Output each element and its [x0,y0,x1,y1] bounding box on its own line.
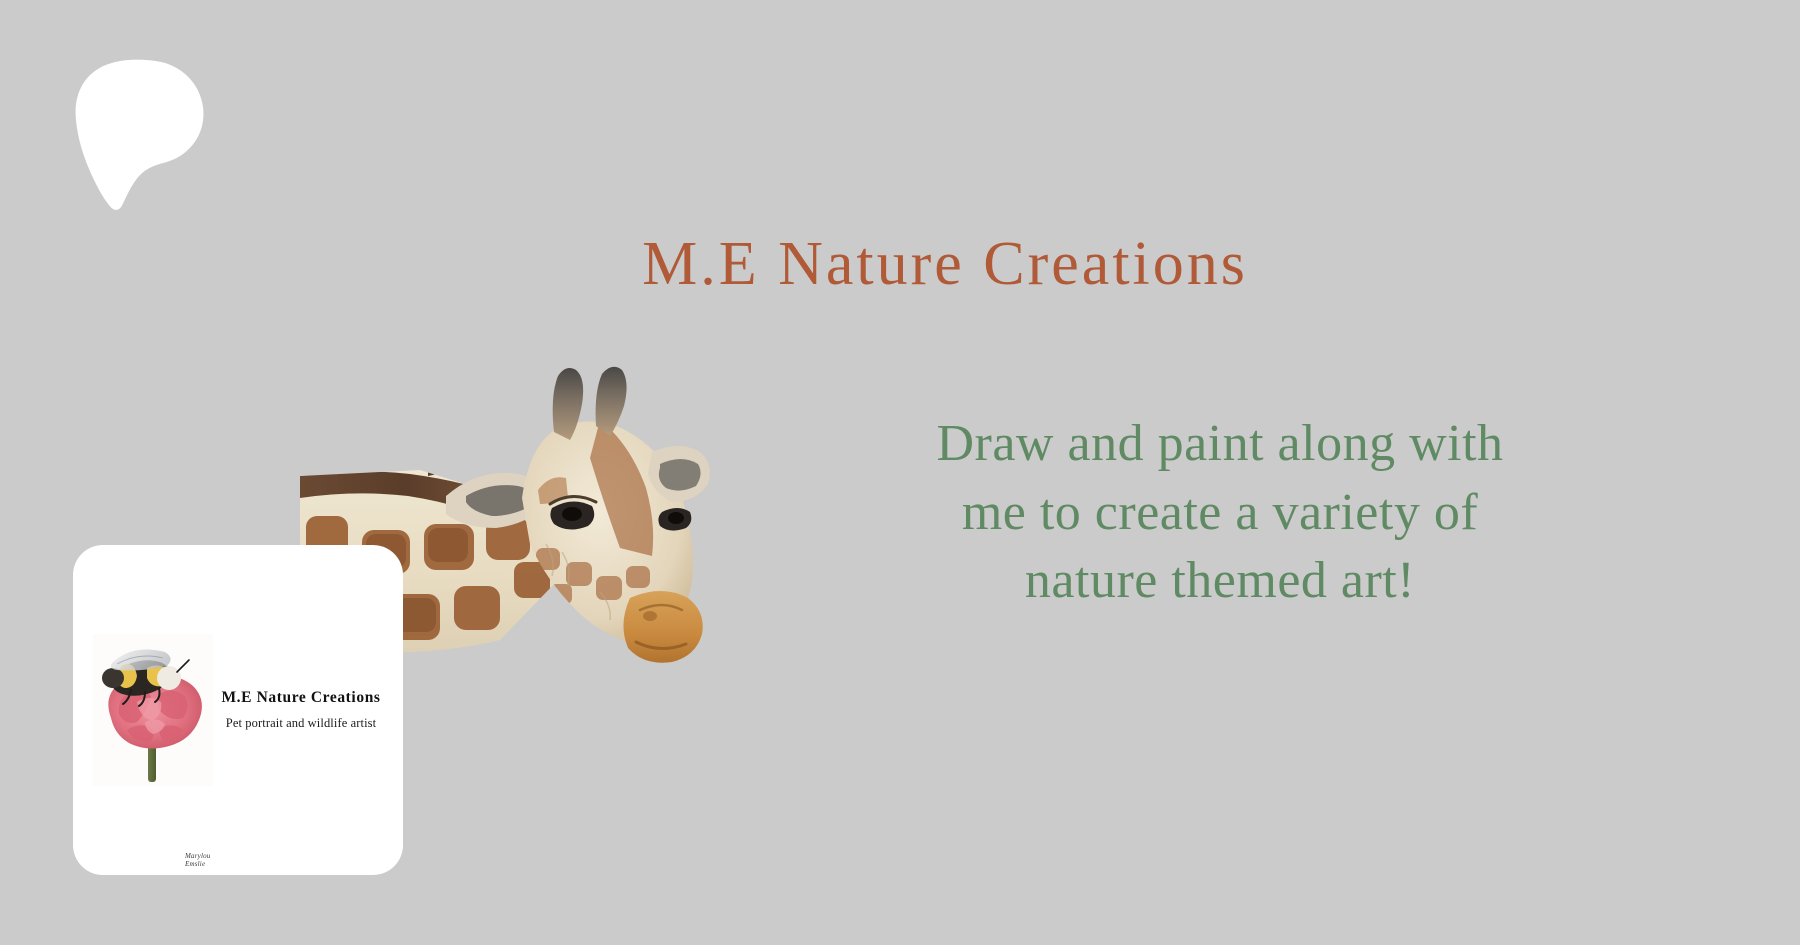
card-logo: Marylou Emslie M.E Nature Creations Pet … [93,630,385,790]
tagline-text: Draw and paint along with me to create a… [915,410,1525,616]
card-text-block: M.E Nature Creations Pet portrait and wi… [213,689,385,732]
artist-signature: Marylou Emslie [185,852,213,868]
page-title: M.E Nature Creations [505,232,1385,297]
avatar[interactable]: Marylou Emslie M.E Nature Creations Pet … [73,545,403,875]
card-subtitle: Pet portrait and wildlife artist [217,716,385,731]
bee-on-peony-illustration: Marylou Emslie [93,634,213,786]
creator-page-banner: M.E Nature Creations [0,0,1800,945]
card-brand-name: M.E Nature Creations [217,689,385,708]
patreon-logo-icon[interactable] [72,58,204,210]
